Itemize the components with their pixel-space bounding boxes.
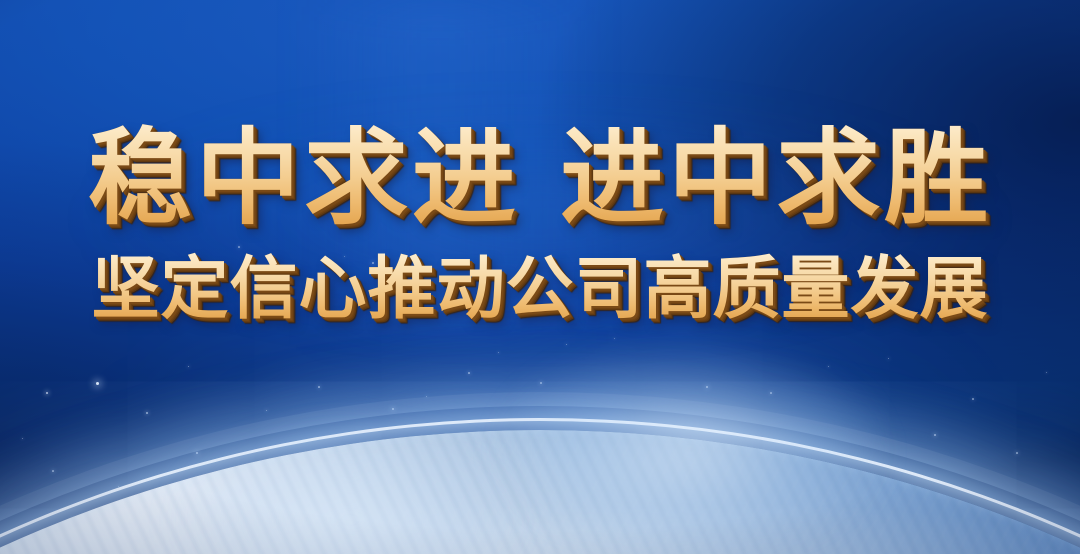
- promotional-banner: 稳中求进 进中求胜 稳中求进 进中求胜 坚定信心推动公司高质量发展 坚定信心推动…: [0, 0, 1080, 554]
- headline-row: 稳中求进 进中求胜 稳中求进 进中求胜: [0, 126, 1080, 230]
- headline-text: 稳中求进 进中求胜: [88, 117, 992, 239]
- subhead-text: 坚定信心推动公司高质量发展: [91, 250, 988, 329]
- subhead-slogan: 坚定信心推动公司高质量发展 坚定信心推动公司高质量发展: [91, 256, 988, 324]
- subhead-row: 坚定信心推动公司高质量发展 坚定信心推动公司高质量发展: [0, 256, 1080, 324]
- headline-slogan: 稳中求进 进中求胜 稳中求进 进中求胜: [88, 126, 992, 230]
